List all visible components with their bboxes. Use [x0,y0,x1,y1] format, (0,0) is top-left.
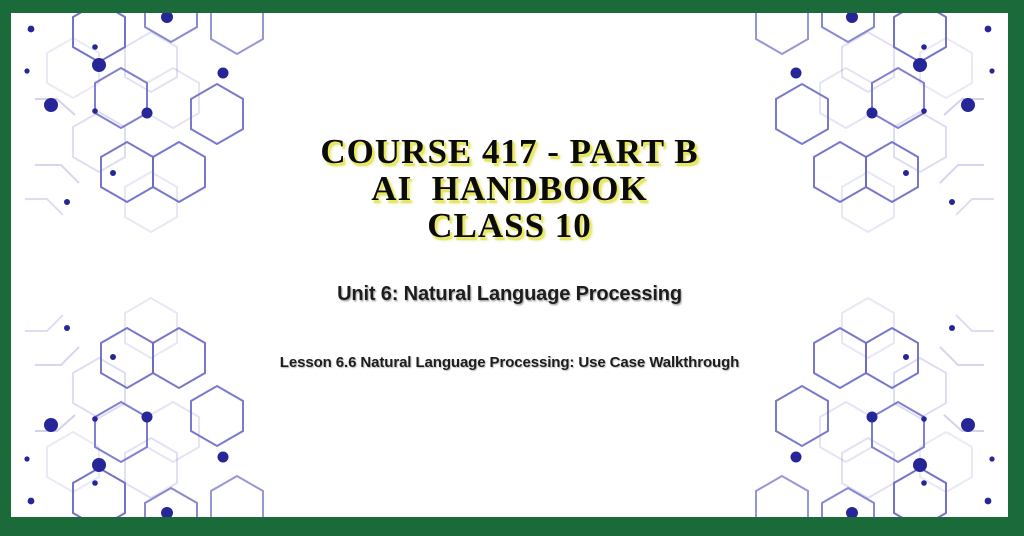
slide-frame: COURSE 417 - PART B AI HANDBOOK CLASS 10… [0,0,1024,536]
hexagon-decoration-bottom-left [11,283,295,517]
hexagon-decoration-bottom-right [724,283,1008,517]
unit-heading: Unit 6: Natural Language Processing [11,283,1008,306]
title-line-handbook: AI HANDBOOK [11,170,1008,207]
lesson-heading: Lesson 6.6 Natural Language Processing: … [11,354,1008,371]
slide-canvas: COURSE 417 - PART B AI HANDBOOK CLASS 10… [11,13,1008,517]
title-line-class: CLASS 10 [11,207,1008,244]
slide-title: COURSE 417 - PART B AI HANDBOOK CLASS 10 [11,133,1008,244]
title-line-course: COURSE 417 - PART B [11,133,1008,170]
